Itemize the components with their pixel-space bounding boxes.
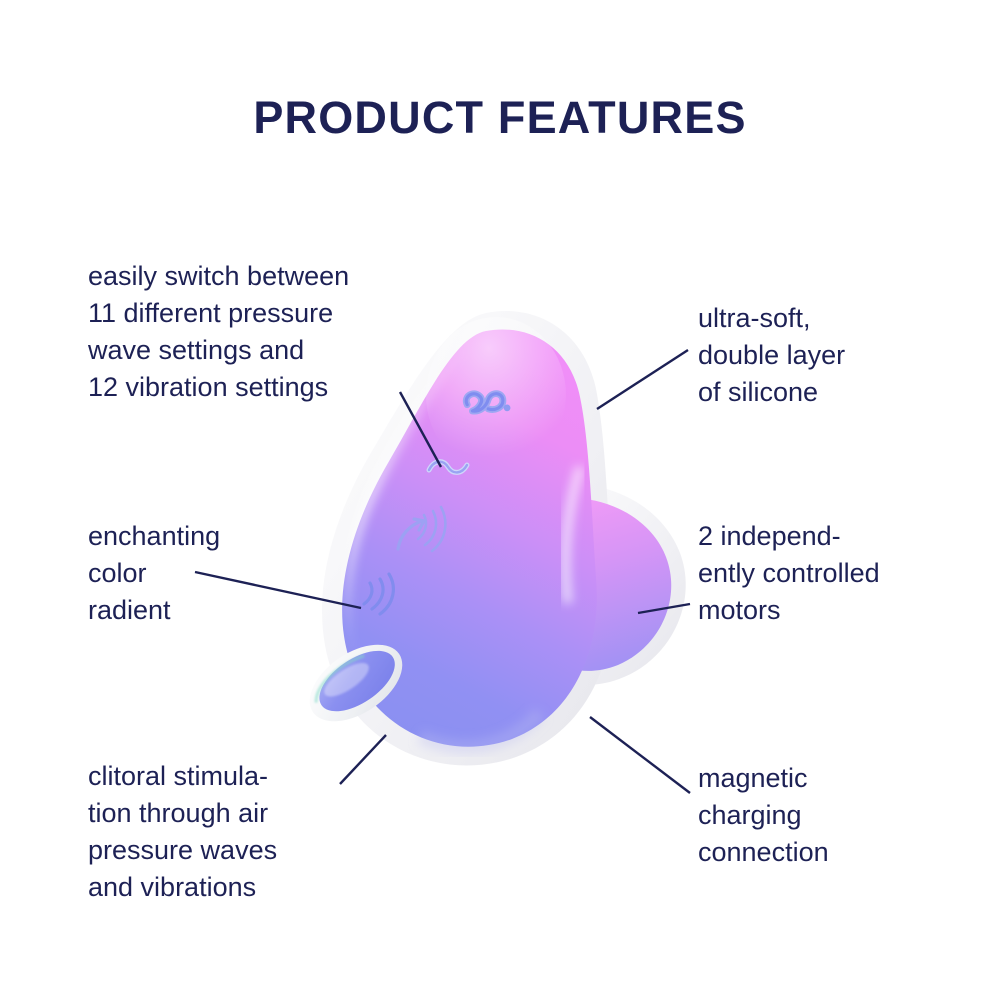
- callout-charging-line-2: charging: [698, 797, 829, 834]
- callout-motors-line-2: ently controlled: [698, 555, 880, 592]
- callout-clitoral-line-4: and vibrations: [88, 869, 277, 906]
- callout-gradient-line-1: enchanting: [88, 518, 220, 555]
- callout-settings-line-1: easily switch between: [88, 258, 349, 295]
- callout-charging-line-3: connection: [698, 834, 829, 871]
- callout-clitoral-line-3: pressure waves: [88, 832, 277, 869]
- product-illustration: [300, 285, 720, 785]
- callout-gradient-line-3: radient: [88, 592, 220, 629]
- callout-clitoral-line-2: tion through air: [88, 795, 277, 832]
- callout-clitoral-line-1: clitoral stimula-: [88, 758, 277, 795]
- callout-silicone-line-2: double layer: [698, 337, 845, 374]
- callout-color-gradient: enchanting color radient: [88, 518, 220, 629]
- callout-silicone: ultra-soft, double layer of silicone: [698, 300, 845, 411]
- callout-silicone-line-1: ultra-soft,: [698, 300, 845, 337]
- callout-motors: 2 independ- ently controlled motors: [698, 518, 880, 629]
- callout-silicone-line-3: of silicone: [698, 374, 845, 411]
- callout-settings-line-3: wave settings and: [88, 332, 349, 369]
- callout-gradient-line-2: color: [88, 555, 220, 592]
- callout-settings: easily switch between 11 different press…: [88, 258, 349, 406]
- page-title: PRODUCT FEATURES: [0, 92, 1000, 144]
- callout-clitoral-stimulation: clitoral stimula- tion through air press…: [88, 758, 277, 906]
- callout-magnetic-charging: magnetic charging connection: [698, 760, 829, 871]
- callout-settings-line-4: 12 vibration settings: [88, 369, 349, 406]
- product-image: [300, 285, 720, 785]
- callout-motors-line-1: 2 independ-: [698, 518, 880, 555]
- product-features-infographic: PRODUCT FEATURES: [0, 0, 1000, 1000]
- callout-charging-line-1: magnetic: [698, 760, 829, 797]
- callout-settings-line-2: 11 different pressure: [88, 295, 349, 332]
- callout-motors-line-3: motors: [698, 592, 880, 629]
